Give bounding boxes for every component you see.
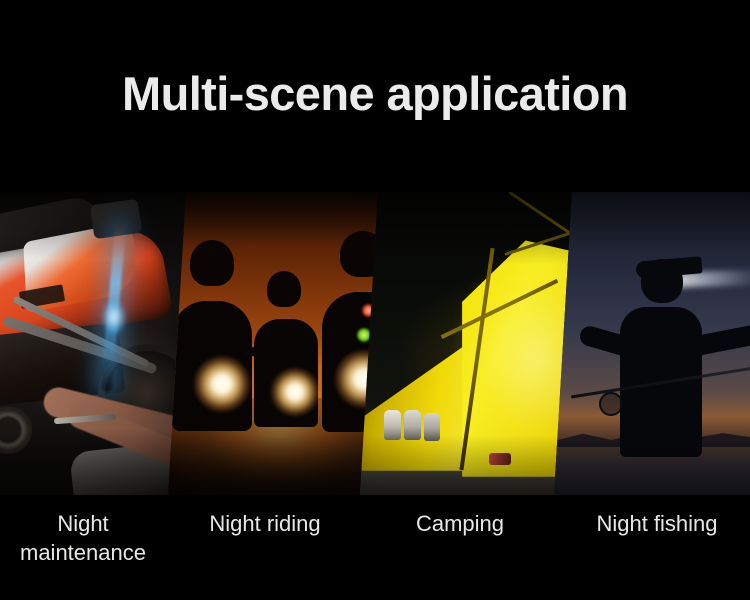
scene-caption-night-fishing: Night fishing (582, 509, 732, 538)
multi-scene-application-banner: Multi-scene application (0, 0, 750, 600)
scene-image-night-maintenance (0, 192, 195, 495)
scene-gallery-strip (0, 192, 750, 495)
panel-vignette (360, 192, 582, 495)
page-title: Multi-scene application (0, 66, 750, 122)
panel-vignette (0, 192, 195, 495)
scene-panel-night-riding[interactable] (168, 192, 388, 495)
scene-image-night-fishing (554, 192, 750, 495)
scene-panel-camping[interactable] (360, 192, 582, 495)
scene-panel-night-fishing[interactable] (554, 192, 750, 495)
scene-caption-night-maintenance: Night maintenance (8, 509, 158, 567)
panel-vignette (554, 192, 750, 495)
scene-caption-camping: Camping (385, 509, 535, 538)
scene-image-night-riding (168, 192, 388, 495)
scene-image-camping (360, 192, 582, 495)
scene-panel-night-maintenance[interactable] (0, 192, 195, 495)
scene-caption-night-riding: Night riding (190, 509, 340, 538)
panel-vignette (168, 192, 388, 495)
